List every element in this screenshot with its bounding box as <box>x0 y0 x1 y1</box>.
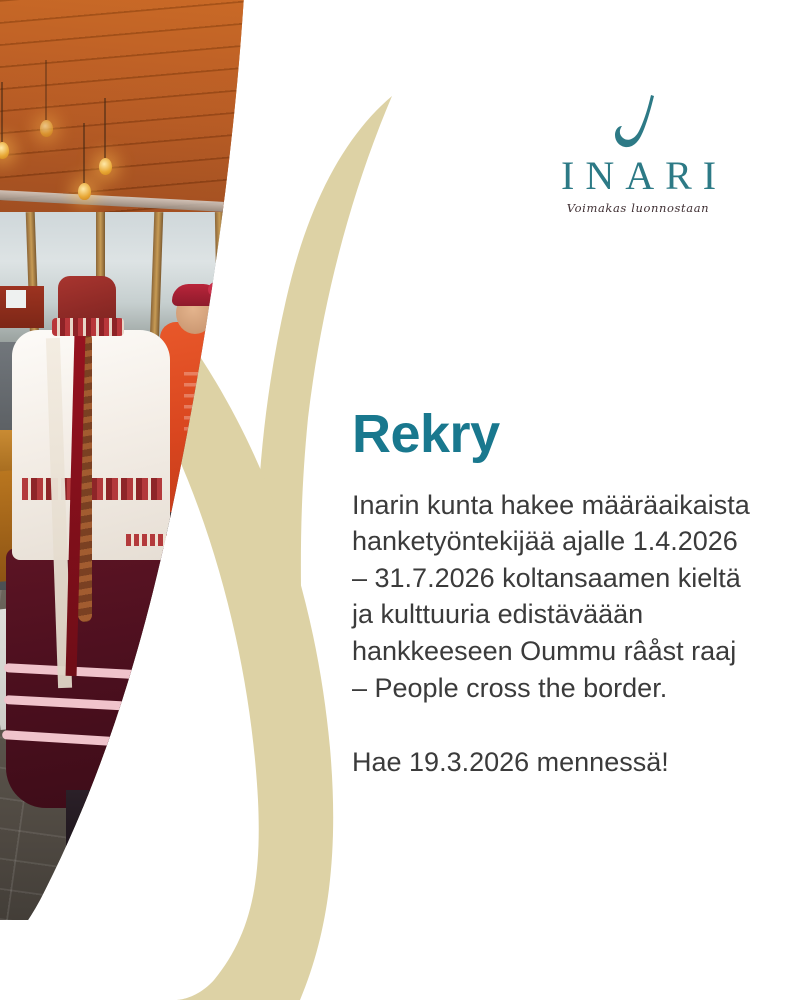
inari-wordmark: INARI <box>550 156 726 196</box>
outdoor-sign <box>6 290 26 308</box>
inari-tagline: Voimakas luonnostaan <box>550 201 726 215</box>
hanging-bulb <box>99 158 112 175</box>
application-deadline: Hae 19.3.2026 mennessä! <box>352 744 752 781</box>
inari-logo[interactable]: INARI Voimakas luonnostaan <box>550 92 726 215</box>
sleeve-cuff <box>126 534 170 546</box>
content-column: Rekry Inarin kunta hakee määräaikaista h… <box>352 406 752 781</box>
recruitment-poster: INARI Voimakas luonnostaan Rekry Inarin … <box>0 0 800 1000</box>
page-title: Rekry <box>352 406 752 463</box>
inari-y-mark-icon <box>610 92 666 154</box>
hanging-bulb <box>78 183 91 200</box>
headdress-band <box>52 318 124 336</box>
woven-belt <box>22 478 162 500</box>
job-description: Inarin kunta hakee määräaikaista hankety… <box>352 487 752 706</box>
hanging-bulb <box>40 120 53 137</box>
